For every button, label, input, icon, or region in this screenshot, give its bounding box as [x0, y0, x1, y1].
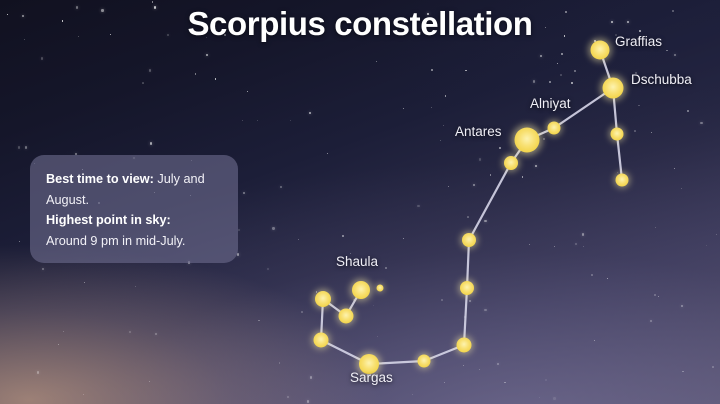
star-upsilon — [339, 309, 354, 324]
constellation-line — [469, 163, 511, 240]
constellation-diagram — [0, 0, 720, 404]
star-label-alniyat: Alniyat — [530, 96, 571, 111]
star-graffias — [591, 41, 610, 60]
star-zeta_sco — [457, 338, 472, 353]
star-label-sargas: Sargas — [350, 370, 393, 385]
star-label-antares: Antares — [455, 124, 502, 139]
constellation-infographic: Scorpius constellation Best time to view… — [0, 0, 720, 404]
star-lesath — [377, 285, 384, 292]
constellation-stars — [314, 41, 629, 375]
star-kappa_sco — [315, 291, 331, 307]
star-eta_sco — [418, 355, 431, 368]
star-shaula — [352, 281, 370, 299]
star-mu_sco — [460, 281, 474, 295]
star-iota_sco — [314, 333, 329, 348]
star-label-shaula: Shaula — [336, 254, 378, 269]
star-epsilon — [462, 233, 476, 247]
constellation-lines — [321, 50, 622, 364]
star-label-graffias: Graffias — [615, 34, 662, 49]
star-tau_sco — [504, 156, 518, 170]
star-rho_sco — [616, 174, 629, 187]
star-label-dschubba: Dschubba — [631, 72, 692, 87]
star-antares — [515, 128, 540, 153]
star-pi_sco — [611, 128, 624, 141]
star-alniyat — [548, 122, 561, 135]
star-glows — [312, 38, 631, 376]
star-dschubba — [603, 78, 624, 99]
